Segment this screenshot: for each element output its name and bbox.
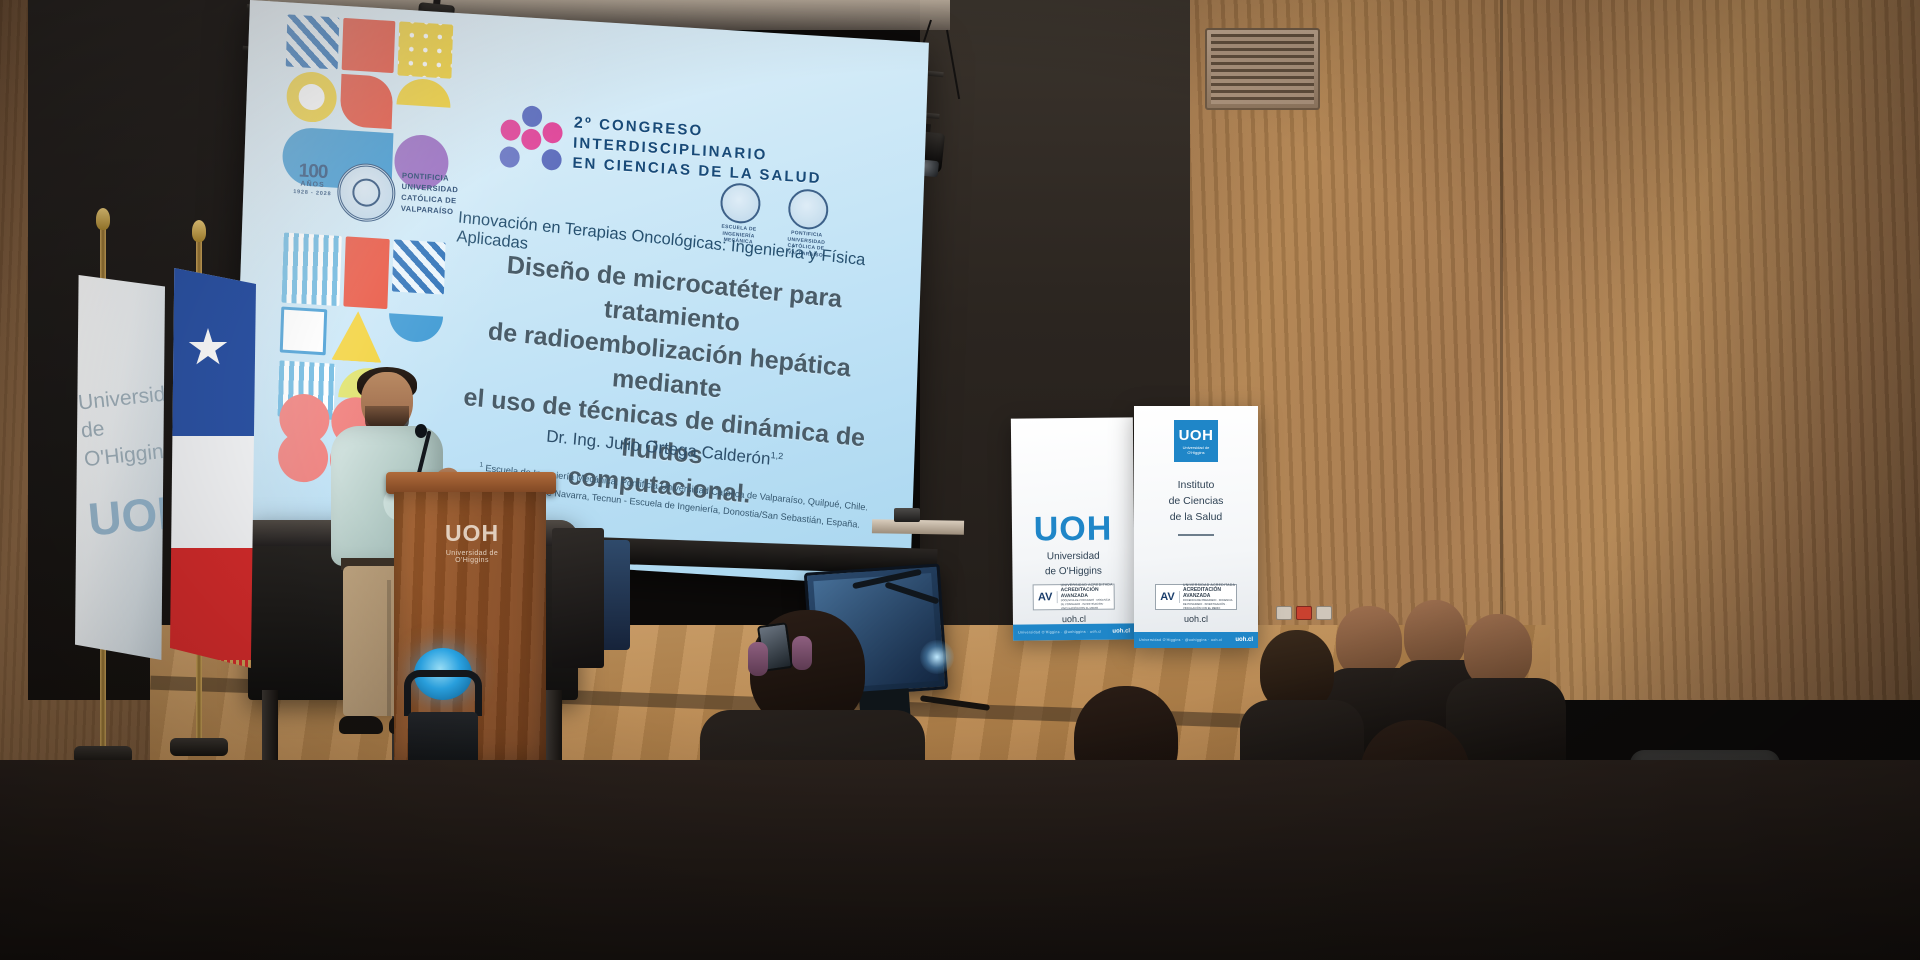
banner-divider [1178, 534, 1214, 536]
pucv-seal-icon [336, 162, 396, 224]
podium-top [386, 472, 556, 494]
banner-logo-sub: Universidad de O'Higgins [1174, 445, 1218, 456]
chile-star-icon [188, 328, 228, 368]
banner-subtitle-line: de O'Higgins [1012, 564, 1134, 580]
banner-uoh-subtitle: Universidad de O'Higgins [1012, 549, 1134, 579]
congress-number: 2º [574, 115, 594, 133]
accreditation-line2: ACREDITACIÓN AVANZADA [1061, 587, 1114, 600]
flagpole-base [170, 738, 228, 756]
auditorium-scene: 2º CONGRESO INTERDISCIPLINARIO EN CIENCI… [0, 0, 1920, 960]
podium-logo-mark: UOH [432, 520, 512, 547]
pucv-years-range: 1928 - 2028 [289, 190, 335, 198]
partner-logo-mecanica: ESCUELA DE INGENIERÍA MECÁNICA [709, 179, 770, 240]
congress-dot-flower-icon [497, 104, 565, 174]
flagpole-finial [96, 208, 110, 230]
podium-logo-sub: Universidad de O'Higgins [432, 550, 512, 564]
partner-logo-pucv: PONTIFICIA UNIVERSIDAD CATÓLICA DE VALPA… [777, 185, 838, 246]
banner-uoh-mark: UOH [1012, 509, 1134, 549]
pucv-anniversary-badge: 100 AÑOS 1928 - 2028 [289, 161, 336, 198]
presentation-clicker[interactable] [894, 508, 920, 522]
banner-institute-title: Instituto de Ciencias de la Salud [1134, 478, 1258, 525]
slide-author-superscript: 1,2 [770, 450, 783, 461]
pucv-anniversary-word: AÑOS [290, 180, 336, 190]
affiliation-marker: 1 [479, 461, 483, 468]
banner-subtitle-line: Universidad [1012, 549, 1134, 565]
banner-uoh-logo-box: UOH Universidad de O'Higgins [1174, 420, 1218, 462]
floor-speaker [552, 528, 604, 668]
raised-hand [748, 642, 768, 676]
wall-seam [1500, 0, 1503, 700]
banner-logo-mark: UOH [1174, 427, 1218, 444]
camera-flash-glow [920, 640, 954, 674]
accreditation-line2: ACREDITACIÓN AVANZADA [1183, 587, 1236, 599]
podium-uoh-logo: UOH Universidad de O'Higgins [432, 520, 512, 564]
moving-head-yoke [404, 670, 482, 716]
air-vent-grille [1205, 28, 1320, 110]
flag-uoh: Universidad de O'Higgins UOH [75, 275, 165, 660]
raised-hand [792, 636, 812, 670]
flag-uoh-mark: UOH [86, 488, 150, 563]
flag-uoh-line2: de O'Higgins [80, 409, 171, 474]
auditorium-foreground [0, 760, 1920, 960]
banner-title-line: de la Salud [1134, 510, 1258, 526]
flagpole-finial [192, 220, 206, 242]
banner-title-line: Instituto [1134, 478, 1258, 494]
flag-chile [170, 268, 256, 668]
banner-title-line: de Ciencias [1134, 494, 1258, 510]
